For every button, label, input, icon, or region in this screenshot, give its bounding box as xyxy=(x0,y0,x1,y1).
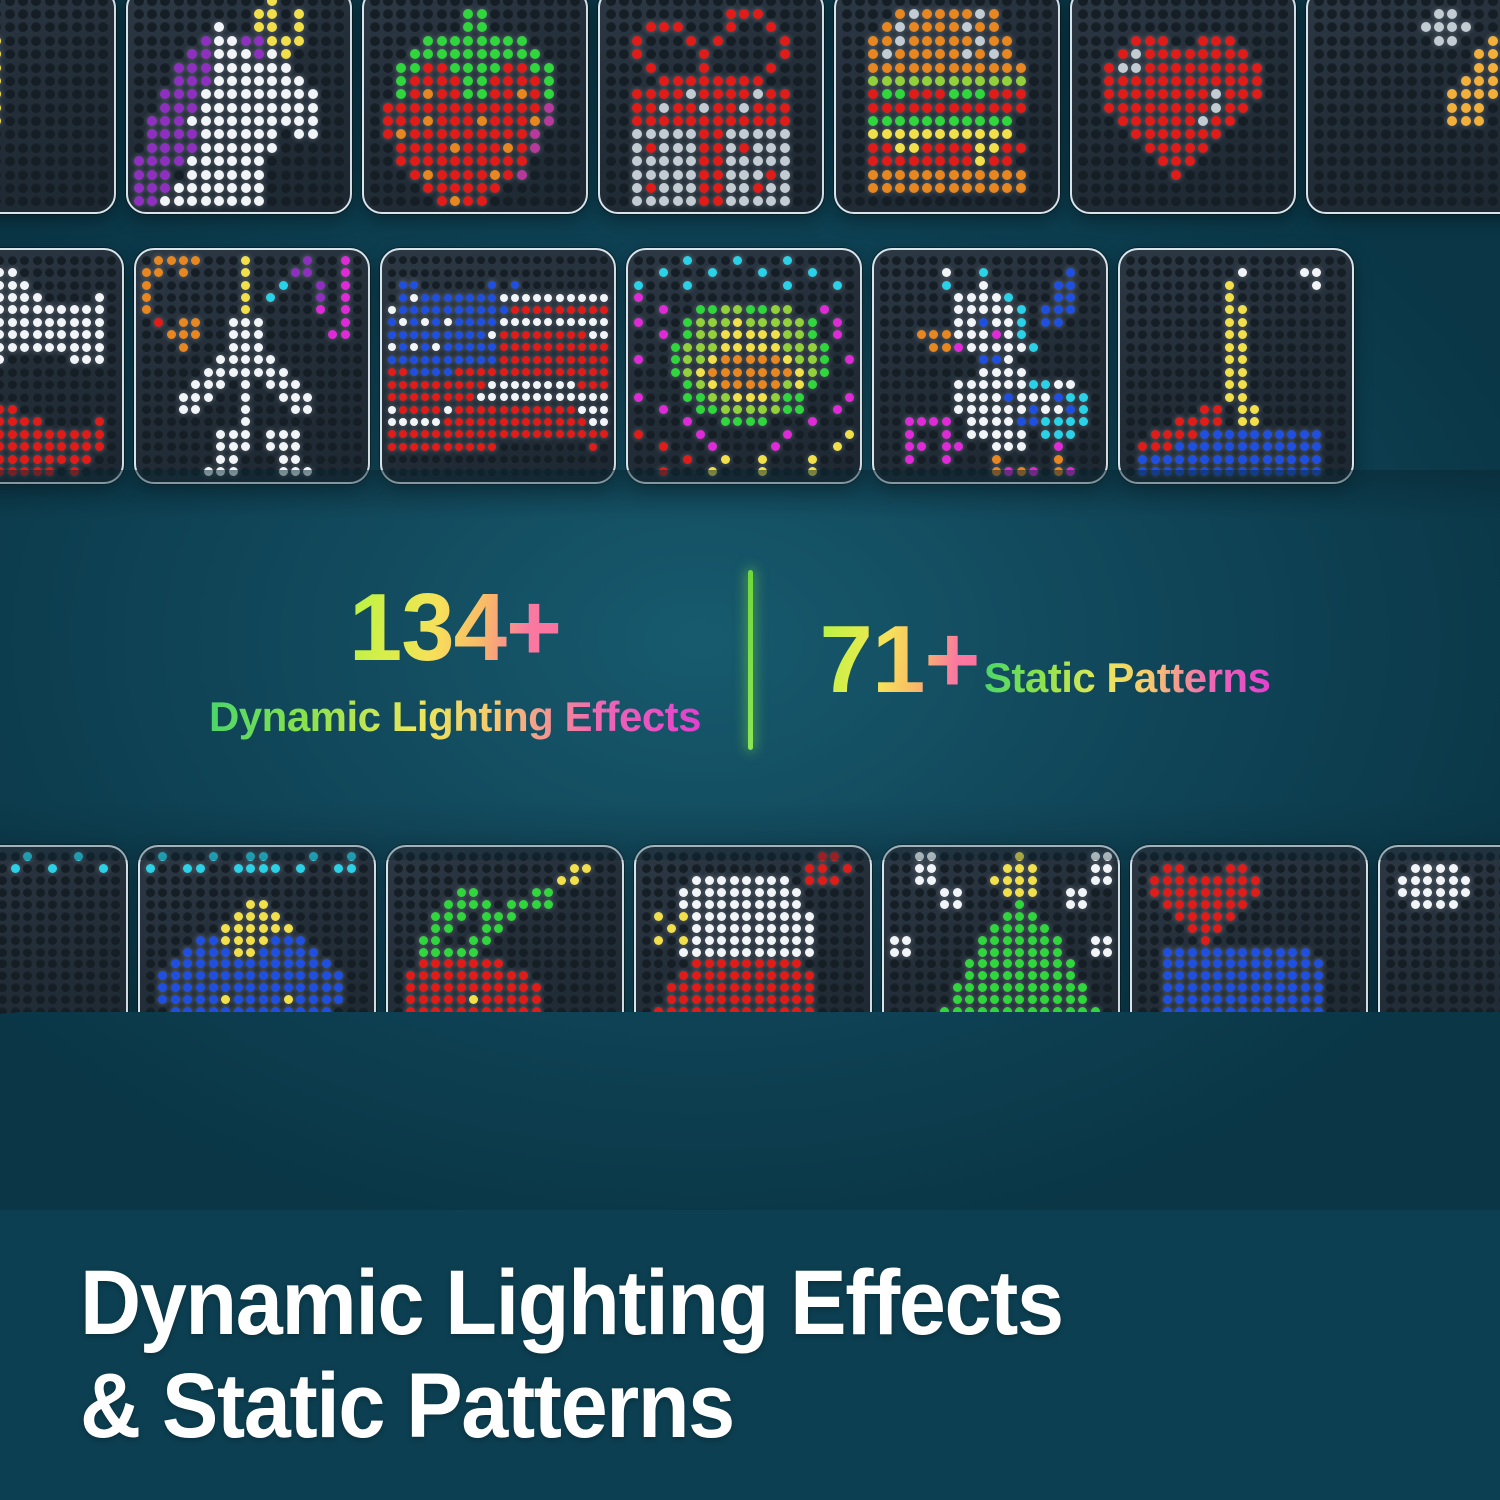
led-dot xyxy=(942,305,951,314)
led-dot xyxy=(469,876,478,885)
led-dot xyxy=(234,876,243,885)
led-dot xyxy=(294,9,304,19)
led-dot xyxy=(33,393,42,402)
led-dot xyxy=(818,864,827,873)
led-dot xyxy=(806,116,816,126)
led-dot xyxy=(942,281,951,290)
led-dot xyxy=(1340,36,1350,46)
led-dot xyxy=(488,331,496,339)
led-dot xyxy=(296,888,305,897)
led-dot xyxy=(1029,281,1038,290)
led-dot xyxy=(70,318,79,327)
led-dot xyxy=(410,281,418,289)
led-dot xyxy=(892,405,901,414)
led-dot xyxy=(730,959,739,968)
led-dot xyxy=(880,305,889,314)
led-dot xyxy=(696,430,705,439)
led-dot xyxy=(410,455,418,463)
led-dot xyxy=(281,63,291,73)
led-dot xyxy=(370,0,380,6)
led-dot xyxy=(291,380,300,389)
led-dot xyxy=(806,89,816,99)
led-dot xyxy=(158,1043,167,1052)
led-dot xyxy=(457,864,466,873)
led-dot xyxy=(855,888,864,897)
led-dot xyxy=(634,355,643,364)
led-dot xyxy=(567,256,575,264)
led-dot xyxy=(544,49,554,59)
led-dot xyxy=(1200,256,1209,265)
led-dot xyxy=(1312,355,1321,364)
led-dot xyxy=(432,381,440,389)
led-dot xyxy=(396,63,406,73)
led-dot xyxy=(557,1055,566,1064)
led-dot xyxy=(556,368,564,376)
led-dot xyxy=(699,89,709,99)
led-dot xyxy=(544,170,554,180)
led-dot xyxy=(1163,380,1172,389)
led-dot xyxy=(158,983,167,992)
led-dot xyxy=(147,196,157,206)
led-dot xyxy=(696,268,705,277)
led-dot xyxy=(1118,196,1128,206)
led-dot xyxy=(1325,256,1334,265)
led-dot xyxy=(45,22,55,32)
led-dot xyxy=(780,183,790,193)
led-dot xyxy=(767,912,776,921)
led-dot xyxy=(183,876,192,885)
led-dot xyxy=(58,9,68,19)
led-dot xyxy=(284,936,293,945)
led-dot xyxy=(895,76,905,86)
led-dot xyxy=(455,306,463,314)
led-dot xyxy=(1238,380,1247,389)
led-dot xyxy=(929,293,938,302)
led-dot xyxy=(1488,36,1498,46)
led-dot xyxy=(975,63,985,73)
led-dot xyxy=(1421,129,1431,139)
led-dot xyxy=(328,305,337,314)
led-dot xyxy=(880,417,889,426)
led-dot xyxy=(905,442,914,451)
led-dot xyxy=(1287,318,1296,327)
led-dot xyxy=(477,49,487,59)
led-dot xyxy=(767,876,776,885)
led-dot xyxy=(406,1055,415,1064)
led-dot xyxy=(733,293,742,302)
led-dot xyxy=(507,1031,516,1040)
led-dot xyxy=(503,116,513,126)
led-dot xyxy=(214,116,224,126)
led-dot xyxy=(1002,116,1012,126)
led-dot xyxy=(444,356,452,364)
led-dot xyxy=(74,959,83,968)
led-dot xyxy=(455,468,463,476)
led-dot xyxy=(795,455,804,464)
led-dot xyxy=(341,330,350,339)
led-dot xyxy=(1175,256,1184,265)
led-dot xyxy=(1447,22,1457,32)
led-dot xyxy=(942,368,951,377)
led-dot xyxy=(216,318,225,327)
led-dot xyxy=(33,318,42,327)
led-dot xyxy=(359,1043,368,1052)
led-dot xyxy=(1158,49,1168,59)
led-dot xyxy=(204,393,213,402)
led-dot xyxy=(1340,143,1350,153)
led-dot xyxy=(721,256,730,265)
led-dot xyxy=(328,281,337,290)
led-dot xyxy=(171,852,180,861)
led-dot xyxy=(929,417,938,426)
led-dot xyxy=(410,430,418,438)
led-dot xyxy=(423,36,433,46)
led-dot xyxy=(1016,143,1026,153)
led-dot xyxy=(646,305,655,314)
led-dot xyxy=(82,330,91,339)
led-dot xyxy=(444,995,453,1004)
led-dot xyxy=(1054,293,1063,302)
led-dot xyxy=(334,995,343,1004)
led-dot xyxy=(142,417,151,426)
led-grid xyxy=(364,0,586,212)
led-dot xyxy=(334,89,344,99)
led-dot xyxy=(99,876,108,885)
led-dot xyxy=(696,281,705,290)
led-dot xyxy=(746,380,755,389)
led-dot xyxy=(544,959,553,968)
led-dot xyxy=(61,948,70,957)
led-dot xyxy=(905,430,914,439)
led-dot xyxy=(111,995,120,1004)
led-dot xyxy=(31,89,41,99)
led-dot xyxy=(632,129,642,139)
led-dot xyxy=(1447,116,1457,126)
led-dot xyxy=(708,343,717,352)
led-dot xyxy=(1278,143,1288,153)
led-dot xyxy=(183,971,192,980)
led-dot xyxy=(406,948,415,957)
led-dot xyxy=(830,948,839,957)
led-dot xyxy=(160,22,170,32)
led-dot xyxy=(589,318,597,326)
led-dot xyxy=(1078,196,1088,206)
led-dot xyxy=(107,380,116,389)
led-dot xyxy=(167,281,176,290)
led-dot xyxy=(490,103,500,113)
led-dot xyxy=(419,888,428,897)
led-dot xyxy=(271,1007,280,1016)
led-dot xyxy=(488,306,496,314)
led-dot xyxy=(359,888,368,897)
led-dot xyxy=(1263,281,1272,290)
led-dot xyxy=(18,129,28,139)
led-dot xyxy=(868,143,878,153)
led-dot xyxy=(567,393,575,401)
led-dot xyxy=(187,0,197,6)
led-dot xyxy=(254,330,263,339)
led-dot xyxy=(1275,330,1284,339)
led-dot xyxy=(1185,116,1195,126)
led-dot xyxy=(1314,36,1324,46)
led-dot xyxy=(1029,293,1038,302)
led-dot xyxy=(659,293,668,302)
led-dot xyxy=(455,256,463,264)
led-dot xyxy=(98,0,108,6)
led-dot xyxy=(1126,442,1135,451)
led-dot xyxy=(880,318,889,327)
led-dot xyxy=(421,443,429,451)
led-dot xyxy=(142,430,151,439)
led-dot xyxy=(1016,170,1026,180)
led-dot xyxy=(359,852,368,861)
led-grid xyxy=(0,847,126,1069)
led-dot xyxy=(1131,143,1141,153)
led-dot xyxy=(783,305,792,314)
led-dot xyxy=(570,0,580,6)
led-dot xyxy=(503,129,513,139)
led-dot xyxy=(179,293,188,302)
led-dot xyxy=(845,417,854,426)
led-dot xyxy=(967,305,976,314)
led-dot xyxy=(600,269,608,277)
led-dot xyxy=(1225,143,1235,153)
led-dot xyxy=(582,1031,591,1040)
led-dot xyxy=(979,330,988,339)
led-dot xyxy=(771,455,780,464)
led-dot xyxy=(792,888,801,897)
led-dot xyxy=(692,983,701,992)
led-dot xyxy=(842,103,852,113)
led-grid xyxy=(1308,0,1500,212)
led-dot xyxy=(533,269,541,277)
led-dot xyxy=(142,393,151,402)
led-dot xyxy=(517,183,527,193)
led-dot xyxy=(659,405,668,414)
led-dot xyxy=(347,959,356,968)
led-dot xyxy=(842,170,852,180)
led-dot xyxy=(533,468,541,476)
led-dot xyxy=(708,330,717,339)
led-dot xyxy=(833,430,842,439)
led-dot xyxy=(954,281,963,290)
led-dot xyxy=(882,103,892,113)
led-dot xyxy=(1091,0,1101,6)
led-dot xyxy=(659,143,669,153)
led-dot xyxy=(266,330,275,339)
led-dot xyxy=(544,1043,553,1052)
led-dot xyxy=(532,1031,541,1040)
led-dot xyxy=(183,852,192,861)
led-dot xyxy=(843,912,852,921)
led-dot xyxy=(359,959,368,968)
led-dot xyxy=(989,183,999,193)
led-dot xyxy=(544,318,552,326)
led-dot xyxy=(683,281,692,290)
led-dot xyxy=(855,89,865,99)
led-dot xyxy=(1029,368,1038,377)
led-dot xyxy=(281,156,291,166)
led-dot xyxy=(1340,116,1350,126)
led-dot xyxy=(246,912,255,921)
led-dot xyxy=(399,418,407,426)
led-dot xyxy=(284,864,293,873)
led-dot xyxy=(241,156,251,166)
led-dot xyxy=(806,22,816,32)
led-dot xyxy=(23,936,32,945)
led-dot xyxy=(70,417,79,426)
led-dot xyxy=(370,196,380,206)
led-dot xyxy=(353,467,362,476)
led-dot xyxy=(1278,63,1288,73)
led-dot xyxy=(935,76,945,86)
led-grid xyxy=(600,0,822,212)
led-dot xyxy=(742,983,751,992)
led-dot xyxy=(0,196,1,206)
led-dot xyxy=(842,196,852,206)
led-dot xyxy=(146,1055,155,1064)
led-dot xyxy=(507,888,516,897)
led-dot xyxy=(780,49,790,59)
led-dot xyxy=(855,876,864,885)
led-dot xyxy=(975,9,985,19)
led-dot xyxy=(1314,76,1324,86)
led-dot xyxy=(347,852,356,861)
led-dot xyxy=(1278,0,1288,6)
led-dot xyxy=(692,924,701,933)
led-dot xyxy=(1185,76,1195,86)
led-dot xyxy=(1054,355,1063,364)
led-dot xyxy=(437,156,447,166)
led-dot xyxy=(1337,293,1346,302)
led-dot xyxy=(221,959,230,968)
led-dot xyxy=(396,183,406,193)
led-dot xyxy=(308,49,318,59)
led-dot xyxy=(1104,170,1114,180)
led-dot xyxy=(1017,256,1026,265)
led-dot xyxy=(444,1031,453,1040)
led-dot xyxy=(511,455,519,463)
led-dot xyxy=(929,281,938,290)
led-dot xyxy=(284,852,293,861)
led-dot xyxy=(334,852,343,861)
led-dot xyxy=(808,318,817,327)
led-dot xyxy=(209,995,218,1004)
led-dot xyxy=(845,256,854,265)
led-dot xyxy=(191,318,200,327)
led-grid xyxy=(0,0,114,212)
led-dot xyxy=(154,305,163,314)
led-dot xyxy=(1004,355,1013,364)
led-dot xyxy=(780,864,789,873)
led-dot xyxy=(160,196,170,206)
led-dot xyxy=(654,924,663,933)
led-dot xyxy=(556,343,564,351)
led-dot xyxy=(61,971,70,980)
led-dot xyxy=(619,76,629,86)
led-dot xyxy=(1079,281,1088,290)
led-dot xyxy=(1131,63,1141,73)
led-dot xyxy=(431,1043,440,1052)
led-dot xyxy=(482,924,491,933)
led-dot xyxy=(281,36,291,46)
led-dot xyxy=(683,368,692,377)
led-dot xyxy=(1238,405,1247,414)
led-dot xyxy=(419,924,428,933)
led-dot xyxy=(1042,116,1052,126)
led-dot xyxy=(490,49,500,59)
led-dot xyxy=(421,306,429,314)
led-dot xyxy=(1327,89,1337,99)
led-dot xyxy=(935,156,945,166)
led-dot xyxy=(544,455,552,463)
led-dot xyxy=(1488,129,1498,139)
led-dot xyxy=(646,36,656,46)
led-dot xyxy=(95,355,104,364)
led-dot xyxy=(905,380,914,389)
led-dot xyxy=(410,116,420,126)
led-dot xyxy=(72,76,82,86)
led-dot xyxy=(895,22,905,32)
led-dot xyxy=(692,912,701,921)
led-dot xyxy=(5,36,15,46)
led-dot xyxy=(659,49,669,59)
led-dot xyxy=(606,0,616,6)
led-dot xyxy=(146,852,155,861)
led-dot xyxy=(855,948,864,957)
led-dot xyxy=(134,76,144,86)
led-dot xyxy=(432,356,440,364)
led-dot xyxy=(962,22,972,32)
led-dot xyxy=(134,196,144,206)
led-dot xyxy=(607,876,616,885)
led-dot xyxy=(1474,183,1484,193)
led-dot xyxy=(766,170,776,180)
led-dot xyxy=(1151,355,1160,364)
led-dot xyxy=(1078,143,1088,153)
led-dot xyxy=(544,1007,553,1016)
led-dot xyxy=(271,983,280,992)
led-dot xyxy=(692,864,701,873)
led-dot xyxy=(431,900,440,909)
led-dot xyxy=(517,103,527,113)
led-dot xyxy=(935,63,945,73)
led-dot xyxy=(567,318,575,326)
led-dot xyxy=(742,900,751,909)
led-dot xyxy=(98,9,108,19)
led-dot xyxy=(444,924,453,933)
led-dot xyxy=(557,959,566,968)
led-dot xyxy=(1325,318,1334,327)
led-dot xyxy=(1447,143,1457,153)
led-dot xyxy=(607,888,616,897)
led-dot xyxy=(271,876,280,885)
led-dot xyxy=(642,876,651,885)
led-dot xyxy=(868,129,878,139)
led-dot xyxy=(692,876,701,885)
led-dot xyxy=(419,852,428,861)
led-dot xyxy=(383,89,393,99)
led-dot xyxy=(36,936,45,945)
led-dot xyxy=(179,442,188,451)
led-dot xyxy=(767,959,776,968)
led-dot xyxy=(935,103,945,113)
led-dot xyxy=(57,343,66,352)
led-dot xyxy=(1188,268,1197,277)
led-dot xyxy=(216,293,225,302)
led-dot xyxy=(683,455,692,464)
led-dot xyxy=(989,49,999,59)
